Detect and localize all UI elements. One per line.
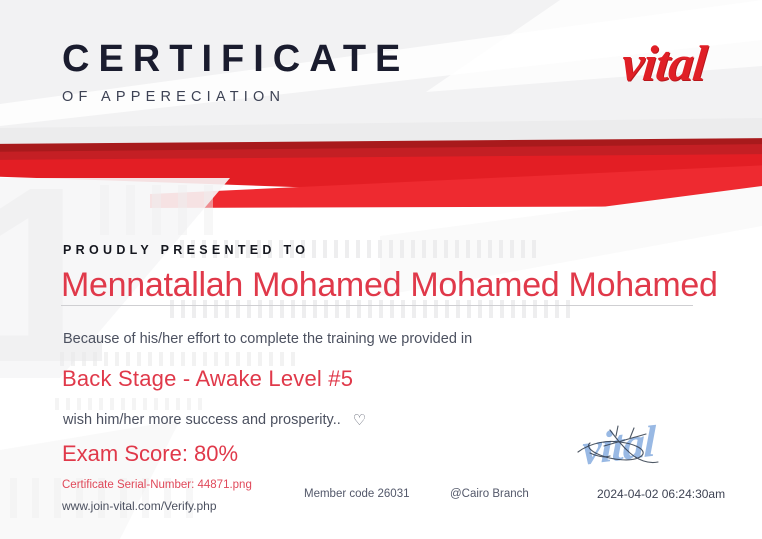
- watermark-bars-3: [60, 352, 300, 366]
- course-name: Back Stage - Awake Level #5: [62, 366, 353, 392]
- issued-timestamp: 2024-04-02 06:24:30am: [597, 487, 725, 501]
- header-grey-strip: [0, 118, 762, 144]
- verify-url[interactable]: www.join-vital.com/Verify.php: [62, 499, 217, 513]
- banner-band-light-red: [150, 150, 762, 216]
- member-code: Member code 26031: [304, 488, 409, 500]
- reason-line: Because of his/her effort to complete th…: [63, 331, 472, 347]
- title-block: CERTIFICATE OF APPERECIATION: [62, 40, 409, 105]
- heart-icon: ♡: [353, 411, 366, 429]
- banner-band-bright-red: [0, 146, 762, 216]
- signature-stamp: vital: [560, 412, 730, 484]
- presented-to-label: PROUDLY PRESENTED TO: [63, 243, 309, 257]
- vital-brand-logo: vital: [619, 38, 708, 88]
- watermark-bars-6: [100, 185, 220, 235]
- branch-name: @Cairo Branch: [450, 488, 529, 500]
- certificate-title: CERTIFICATE: [62, 40, 409, 78]
- banner-band-mid-red: [0, 142, 762, 202]
- recipient-name: Mennatallah Mohamed Mohamed Mohamed: [61, 265, 718, 306]
- wish-line: wish him/her more success and prosperity…: [63, 411, 366, 429]
- exam-score: Exam Score: 80%: [62, 441, 238, 467]
- banner-band-dark-red: [0, 138, 762, 184]
- handwritten-signature-icon: [560, 412, 730, 484]
- certificate-canvas: 1 CERTIFICATE OF APPERECIATION vital PRO…: [0, 0, 762, 539]
- recipient-name-underline: [61, 305, 693, 306]
- certificate-serial-number: Certificate Serial-Number: 44871.png: [62, 479, 252, 491]
- watermark-bars-4: [55, 398, 205, 410]
- body-sweep-right: [380, 186, 762, 336]
- wish-line-text: wish him/her more success and prosperity…: [63, 412, 341, 428]
- certificate-subtitle: OF APPERECIATION: [62, 89, 409, 105]
